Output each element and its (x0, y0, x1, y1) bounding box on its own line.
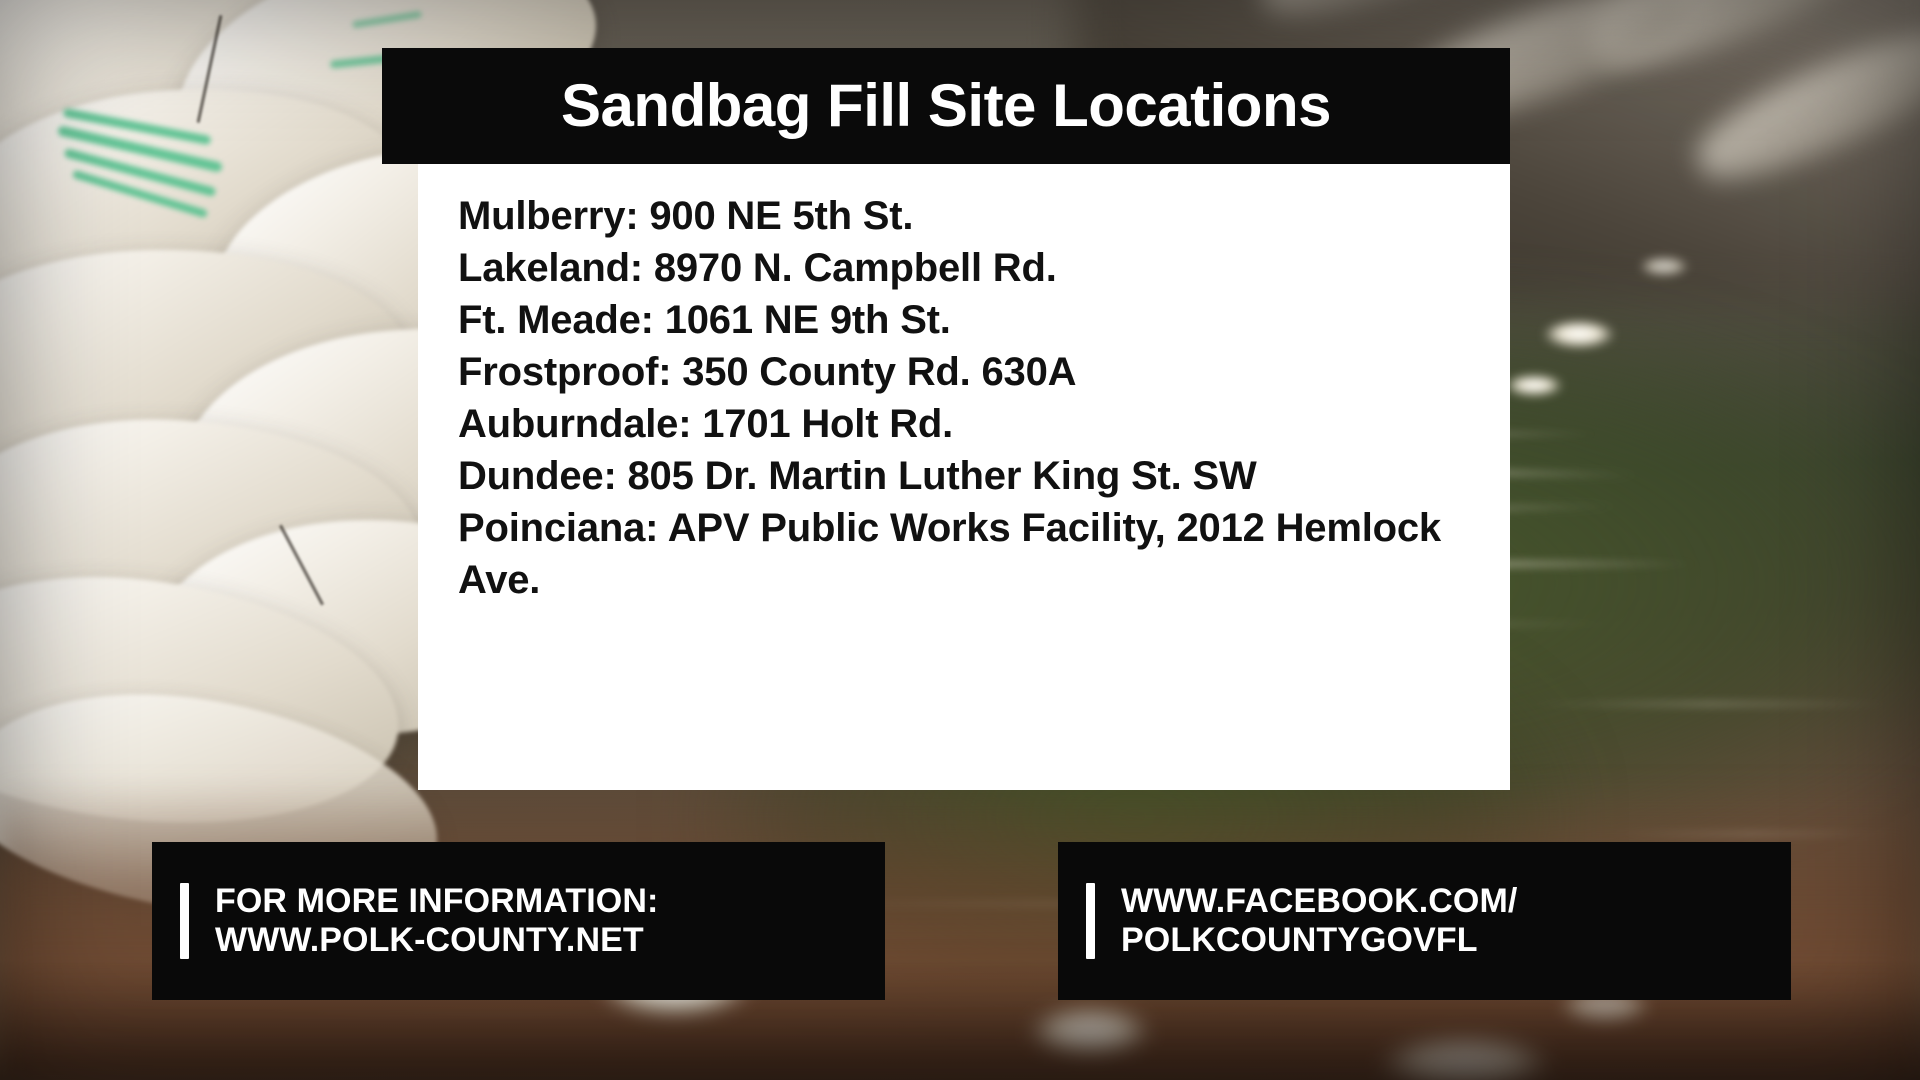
footer-right-line1: WWW.FACEBOOK.COM/ (1121, 882, 1517, 920)
list-item: Auburndale: 1701 Holt Rd. (458, 398, 1492, 450)
list-item: Lakeland: 8970 N. Campbell Rd. (458, 242, 1492, 294)
title-bar: Sandbag Fill Site Locations (382, 48, 1510, 164)
footer-website-text: FOR MORE INFORMATION: WWW.POLK-COUNTY.NE… (215, 882, 658, 961)
accent-bar-icon (180, 883, 189, 959)
accent-bar-icon (1086, 883, 1095, 959)
list-item: Dundee: 805 Dr. Martin Luther King St. S… (458, 450, 1492, 502)
locations-card: Mulberry: 900 NE 5th St. Lakeland: 8970 … (418, 164, 1510, 790)
list-item: Ft. Meade: 1061 NE 9th St. (458, 294, 1492, 346)
footer-facebook-text: WWW.FACEBOOK.COM/ POLKCOUNTYGOVFL (1121, 882, 1517, 961)
slide-root: Sandbag Fill Site Locations Mulberry: 90… (0, 0, 1920, 1080)
footer-right-line2: POLKCOUNTYGOVFL (1121, 921, 1517, 960)
list-item: Poinciana: APV Public Works Facility, 20… (458, 502, 1492, 606)
locations-list: Mulberry: 900 NE 5th St. Lakeland: 8970 … (418, 190, 1510, 606)
footer-banner-website: FOR MORE INFORMATION: WWW.POLK-COUNTY.NE… (152, 842, 885, 1000)
list-item: Mulberry: 900 NE 5th St. (458, 190, 1492, 242)
list-item: Frostproof: 350 County Rd. 630A (458, 346, 1492, 398)
page-title: Sandbag Fill Site Locations (561, 76, 1331, 136)
footer-banner-facebook: WWW.FACEBOOK.COM/ POLKCOUNTYGOVFL (1058, 842, 1791, 1000)
footer-left-line1: FOR MORE INFORMATION: (215, 882, 658, 920)
footer-left-line2: WWW.POLK-COUNTY.NET (215, 921, 658, 960)
